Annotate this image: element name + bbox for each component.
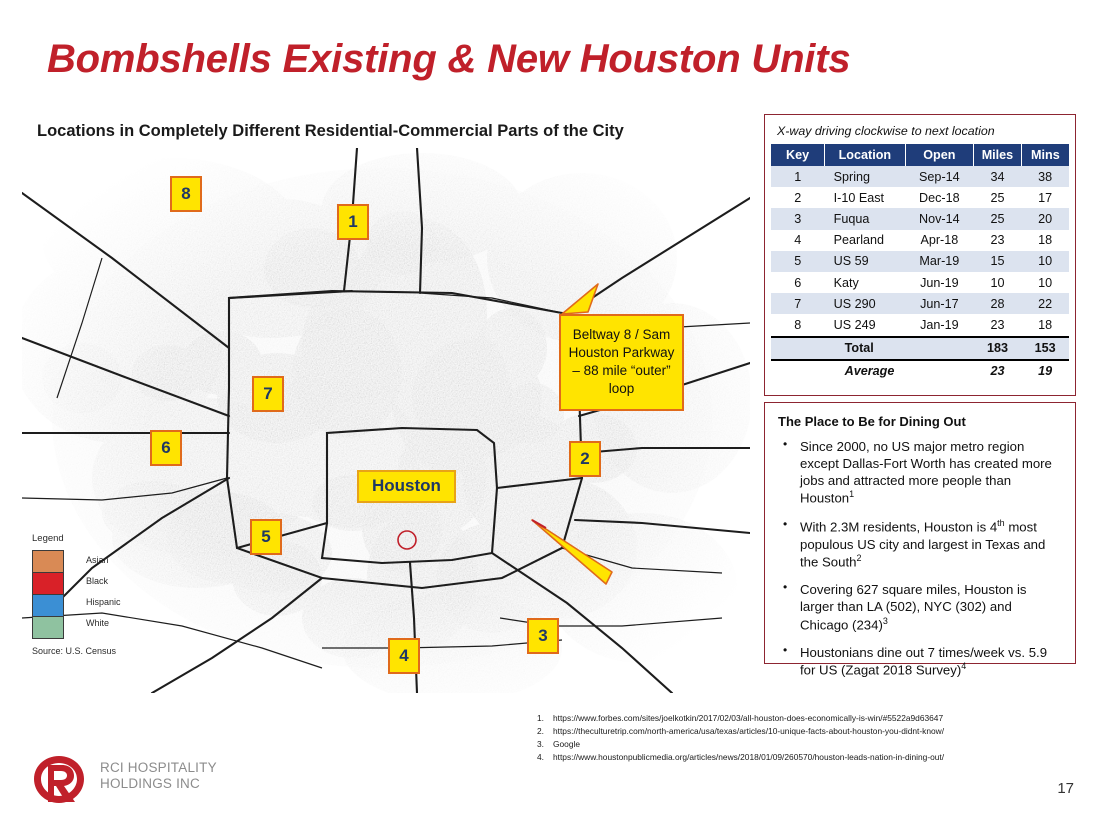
cell-miles: 25 — [974, 208, 1022, 229]
map-heading: Locations in Completely Different Reside… — [37, 122, 624, 141]
table-row: 5 US 59 Mar-19 15 10 — [771, 251, 1069, 272]
cell-average-label: Average — [825, 360, 905, 382]
logo-line-1: RCI HOSPITALITY — [100, 760, 217, 776]
footnote-number: 4. — [537, 751, 553, 764]
footnote-3: 3.Google — [537, 738, 1082, 751]
map-marker-2[interactable]: 2 — [569, 441, 601, 477]
logo-text: RCI HOSPITALITY HOLDINGS INC — [100, 760, 217, 792]
cell-location: Spring — [825, 166, 905, 187]
list-item: With 2.3M residents, Houston is 4th most… — [778, 518, 1062, 570]
list-item: Houstonians dine out 7 times/week vs. 5.… — [778, 644, 1062, 679]
col-header-location: Location — [825, 144, 905, 166]
cell-open: Apr-18 — [905, 230, 974, 251]
bullet-text-4: Houstonians dine out 7 times/week vs. 5.… — [800, 645, 1047, 678]
table-header-row: Key Location Open Miles Mins — [771, 144, 1069, 166]
cell-mins: 10 — [1021, 272, 1069, 293]
col-header-open: Open — [905, 144, 974, 166]
i610-callout-arrow — [502, 518, 622, 588]
legend-source: Source: U.S. Census — [32, 646, 152, 656]
bullet-text-2a: With 2.3M residents, Houston is 4 — [800, 519, 997, 534]
page-number: 17 — [1057, 780, 1074, 797]
footnote-2: 2.https://theculturetrip.com/north-ameri… — [537, 725, 1082, 738]
table-row: 4 Pearland Apr-18 23 18 — [771, 230, 1069, 251]
cell-miles: 34 — [974, 166, 1022, 187]
cell-average-miles: 23 — [974, 360, 1022, 382]
col-header-miles: Miles — [974, 144, 1022, 166]
map-marker-1[interactable]: 1 — [337, 204, 369, 240]
legend-swatch-black — [33, 573, 63, 595]
legend-swatches — [32, 550, 64, 639]
drive-table-caption: X-way driving clockwise to next location — [771, 119, 1069, 144]
bullet-text-1: Since 2000, no US major metro region exc… — [800, 439, 1052, 506]
cell-location: US 59 — [825, 251, 905, 272]
cell-total-miles: 183 — [974, 337, 1022, 360]
footnote-1: 1.https://www.forbes.com/sites/joelkotki… — [537, 712, 1082, 725]
table-row: 7 US 290 Jun-17 28 22 — [771, 293, 1069, 314]
legend-label-hispanic: Hispanic — [86, 592, 121, 613]
table-row-average: Average 23 19 — [771, 360, 1069, 382]
cell-open — [905, 360, 974, 382]
city-label-houston: Houston — [357, 470, 456, 503]
legend-title: Legend — [32, 533, 152, 544]
cell-key: 3 — [771, 208, 825, 229]
footnote-url[interactable]: https://www.forbes.com/sites/joelkotkin/… — [553, 713, 943, 723]
cell-mins: 17 — [1021, 187, 1069, 208]
legend-swatch-hispanic — [33, 595, 63, 617]
map-marker-4[interactable]: 4 — [388, 638, 420, 674]
table-row: 6 Katy Jun-19 10 10 — [771, 272, 1069, 293]
drive-table: Key Location Open Miles Mins 1 Spring Se… — [771, 144, 1069, 382]
table-row-total: Total 183 153 — [771, 337, 1069, 360]
cell-location: I-10 East — [825, 187, 905, 208]
table-row: 8 US 249 Jan-19 23 18 — [771, 314, 1069, 336]
footnote-list: 1.https://www.forbes.com/sites/joelkotki… — [537, 712, 1082, 764]
legend-label-white: White — [86, 613, 121, 634]
cell-mins: 18 — [1021, 230, 1069, 251]
footnote-url[interactable]: https://www.houstonpublicmedia.org/artic… — [553, 752, 944, 762]
cell-miles: 23 — [974, 230, 1022, 251]
cell-mins: 10 — [1021, 251, 1069, 272]
rci-r-icon — [28, 752, 92, 810]
dining-bullet-list: Since 2000, no US major metro region exc… — [778, 438, 1062, 679]
cell-open: Mar-19 — [905, 251, 974, 272]
map-legend: Legend Asian Black Hispanic White Source… — [32, 533, 152, 656]
logo-line-2: HOLDINGS INC — [100, 776, 217, 792]
houston-demographic-map: Legend Asian Black Hispanic White Source… — [22, 148, 750, 693]
table-row: 3 Fuqua Nov-14 25 20 — [771, 208, 1069, 229]
dining-panel: The Place to Be for Dining Out Since 200… — [764, 402, 1076, 664]
map-marker-3[interactable]: 3 — [527, 618, 559, 654]
cell-open: Jun-17 — [905, 293, 974, 314]
cell-key — [771, 360, 825, 382]
table-row: 2 I-10 East Dec-18 25 17 — [771, 187, 1069, 208]
cell-location: Katy — [825, 272, 905, 293]
map-marker-8[interactable]: 8 — [170, 176, 202, 212]
cell-key: 2 — [771, 187, 825, 208]
cell-key: 8 — [771, 314, 825, 336]
cell-miles: 15 — [974, 251, 1022, 272]
footnote-url[interactable]: Google — [553, 739, 580, 749]
cell-miles: 28 — [974, 293, 1022, 314]
cell-miles: 23 — [974, 314, 1022, 336]
footnote-number: 3. — [537, 738, 553, 751]
list-item: Since 2000, no US major metro region exc… — [778, 438, 1062, 507]
cell-total-label: Total — [825, 337, 905, 360]
cell-open: Dec-18 — [905, 187, 974, 208]
callout-beltway-8: Beltway 8 / Sam Houston Parkway – 88 mil… — [559, 314, 684, 411]
map-marker-6[interactable]: 6 — [150, 430, 182, 466]
dining-panel-title: The Place to Be for Dining Out — [778, 414, 1062, 429]
cell-mins: 38 — [1021, 166, 1069, 187]
cell-key: 4 — [771, 230, 825, 251]
cell-open — [905, 337, 974, 360]
col-header-mins: Mins — [1021, 144, 1069, 166]
cell-average-mins: 19 — [1021, 360, 1069, 382]
cell-mins: 22 — [1021, 293, 1069, 314]
table-row: 1 Spring Sep-14 34 38 — [771, 166, 1069, 187]
cell-total-mins: 153 — [1021, 337, 1069, 360]
cell-open: Jan-19 — [905, 314, 974, 336]
map-marker-7[interactable]: 7 — [252, 376, 284, 412]
cell-key: 5 — [771, 251, 825, 272]
cell-key: 6 — [771, 272, 825, 293]
page-title: Bombshells Existing & New Houston Units — [47, 37, 850, 82]
cell-miles: 10 — [974, 272, 1022, 293]
legend-swatch-white — [33, 617, 63, 638]
bullet-text-3: Covering 627 square miles, Houston is la… — [800, 582, 1027, 632]
cell-miles: 25 — [974, 187, 1022, 208]
footnote-url[interactable]: https://theculturetrip.com/north-america… — [553, 726, 944, 736]
company-logo: RCI HOSPITALITY HOLDINGS INC — [28, 752, 243, 810]
cell-mins: 18 — [1021, 314, 1069, 336]
footnote-number: 1. — [537, 712, 553, 725]
footnote-ref-3: 3 — [883, 616, 888, 626]
footnote-number: 2. — [537, 725, 553, 738]
legend-labels: Asian Black Hispanic White — [86, 550, 121, 639]
cell-open: Nov-14 — [905, 208, 974, 229]
legend-label-asian: Asian — [86, 550, 121, 571]
cell-open: Sep-14 — [905, 166, 974, 187]
cell-location: Fuqua — [825, 208, 905, 229]
cell-open: Jun-19 — [905, 272, 974, 293]
footnote-4: 4.https://www.houstonpublicmedia.org/art… — [537, 751, 1082, 764]
cell-key: 7 — [771, 293, 825, 314]
legend-swatch-asian — [33, 551, 63, 573]
footnote-ref-4: 4 — [961, 661, 966, 671]
col-header-key: Key — [771, 144, 825, 166]
map-marker-5[interactable]: 5 — [250, 519, 282, 555]
cell-mins: 20 — [1021, 208, 1069, 229]
list-item: Covering 627 square miles, Houston is la… — [778, 581, 1062, 633]
footnote-ref-1: 1 — [849, 489, 854, 499]
drive-table-panel: X-way driving clockwise to next location… — [764, 114, 1076, 396]
ordinal-suffix: th — [997, 518, 1004, 528]
cell-location: US 290 — [825, 293, 905, 314]
cell-key: 1 — [771, 166, 825, 187]
footnote-ref-2: 2 — [856, 553, 861, 563]
cell-location: US 249 — [825, 314, 905, 336]
cell-location: Pearland — [825, 230, 905, 251]
legend-label-black: Black — [86, 571, 121, 592]
cell-key — [771, 337, 825, 360]
